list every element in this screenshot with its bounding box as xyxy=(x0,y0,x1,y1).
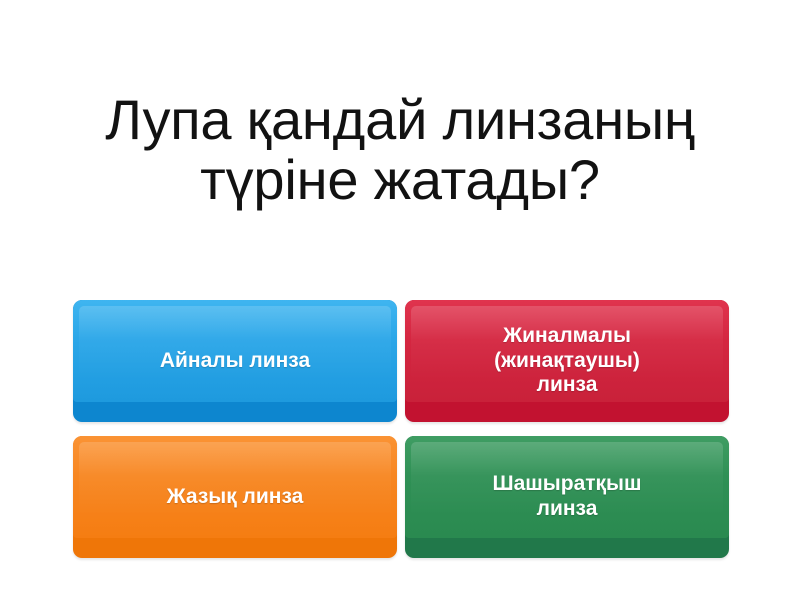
answer-option-4-label: Шашыратқыш линза xyxy=(479,472,656,522)
answer-option-1[interactable]: Айналы линза xyxy=(73,300,397,422)
question-text: Лупа қандай линзаның түріне жатады? xyxy=(70,90,730,211)
answer-options-grid: Айналы линза Жиналмалы (жинақтаушы) линз… xyxy=(73,300,729,558)
question-area: Лупа қандай линзаның түріне жатады? xyxy=(0,0,800,300)
answer-option-3[interactable]: Жазық линза xyxy=(73,436,397,558)
answer-option-1-label: Айналы линза xyxy=(146,349,324,374)
answer-option-4[interactable]: Шашыратқыш линза xyxy=(405,436,729,558)
answer-option-2-label: Жиналмалы (жинақтаушы) линза xyxy=(480,324,654,398)
quiz-stage: Лупа қандай линзаның түріне жатады? Айна… xyxy=(0,0,800,600)
answer-option-3-label: Жазық линза xyxy=(153,485,318,510)
answer-option-2[interactable]: Жиналмалы (жинақтаушы) линза xyxy=(405,300,729,422)
